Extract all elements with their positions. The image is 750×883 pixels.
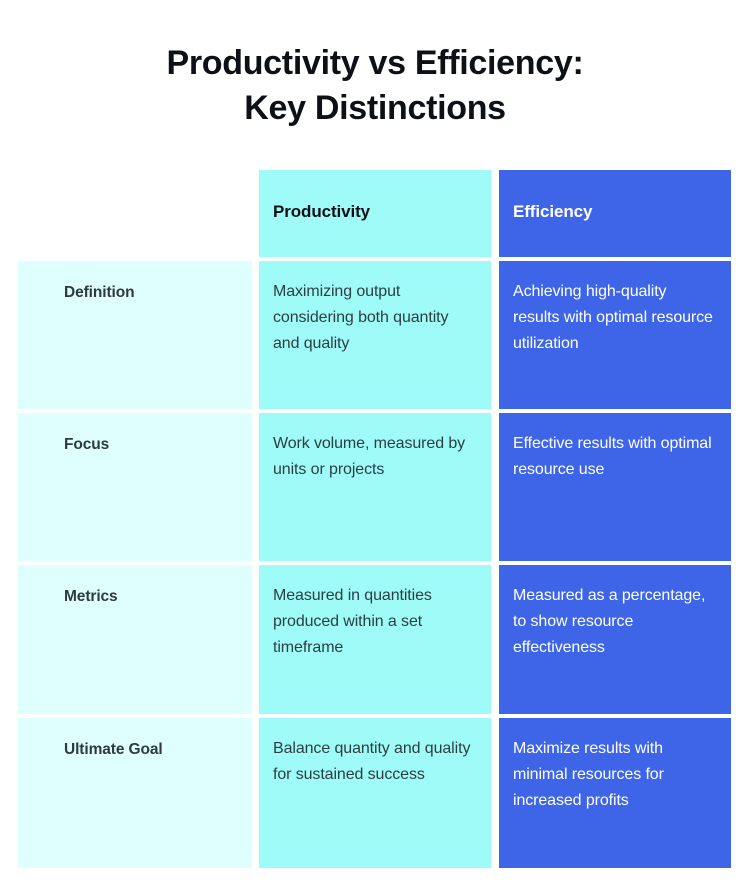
header-label-productivity: Productivity [259,170,491,223]
row-cell-efficiency-metrics: Measured as a percentage, to show resour… [499,565,731,714]
row-label-cell-definition: Definition [18,261,252,409]
row-text-productivity-metrics: Measured in quantities produced within a… [259,565,491,661]
table-row-focus: Focus Work volume, measured by units or … [18,413,731,561]
row-text-productivity-definition: Maximizing output considering both quant… [259,261,491,357]
row-text-efficiency-metrics: Measured as a percentage, to show resour… [499,565,731,661]
header-label-efficiency: Efficiency [499,170,731,223]
row-label-cell-metrics: Metrics [18,565,252,714]
row-cell-productivity-focus: Work volume, measured by units or projec… [259,413,491,561]
row-label-cell-focus: Focus [18,413,252,561]
header-cell-empty [18,170,252,257]
row-cell-efficiency-definition: Achieving high-quality results with opti… [499,261,731,409]
row-label-cell-ultimate-goal: Ultimate Goal [18,718,252,868]
comparison-infographic: Productivity vs Efficiency: Key Distinct… [0,0,750,883]
table-row-metrics: Metrics Measured in quantities produced … [18,565,731,714]
page-title: Productivity vs Efficiency: Key Distinct… [0,41,750,131]
row-label-metrics: Metrics [18,565,252,607]
row-label-definition: Definition [18,261,252,303]
table-header-row: Productivity Efficiency [18,170,731,257]
page-title-line-1: Productivity vs Efficiency: [0,41,750,86]
row-cell-efficiency-focus: Effective results with optimal resource … [499,413,731,561]
table-row-definition: Definition Maximizing output considering… [18,261,731,409]
table-row-ultimate-goal: Ultimate Goal Balance quantity and quali… [18,718,731,868]
comparison-table: Productivity Efficiency Definition Maxim… [18,170,731,868]
row-cell-efficiency-ultimate-goal: Maximize results with minimal resources … [499,718,731,868]
header-cell-productivity: Productivity [259,170,491,257]
row-text-productivity-ultimate-goal: Balance quantity and quality for sustain… [259,718,491,788]
row-cell-productivity-definition: Maximizing output considering both quant… [259,261,491,409]
row-cell-productivity-metrics: Measured in quantities produced within a… [259,565,491,714]
row-text-efficiency-ultimate-goal: Maximize results with minimal resources … [499,718,731,814]
header-cell-efficiency: Efficiency [499,170,731,257]
row-text-efficiency-definition: Achieving high-quality results with opti… [499,261,731,357]
row-label-focus: Focus [18,413,252,455]
page-title-line-2: Key Distinctions [0,86,750,131]
row-text-productivity-focus: Work volume, measured by units or projec… [259,413,491,483]
row-cell-productivity-ultimate-goal: Balance quantity and quality for sustain… [259,718,491,868]
row-label-ultimate-goal: Ultimate Goal [18,718,252,760]
row-text-efficiency-focus: Effective results with optimal resource … [499,413,731,483]
